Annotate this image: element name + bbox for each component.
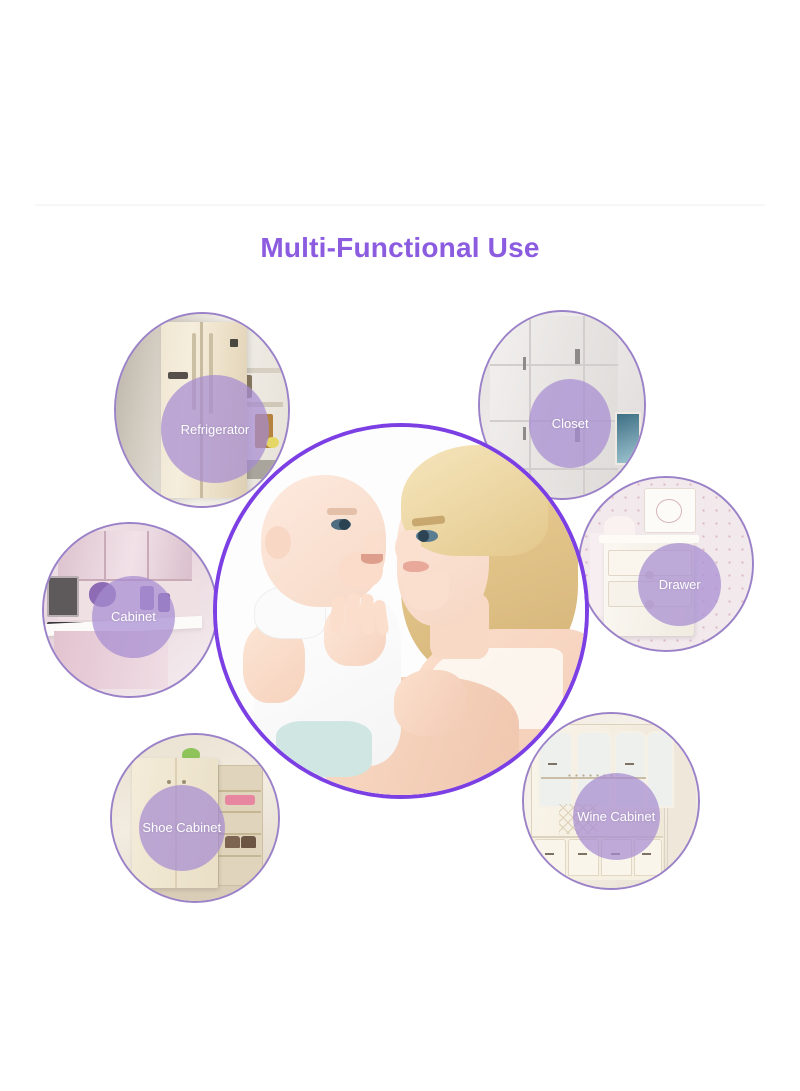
bubble-label-text: Shoe Cabinet	[142, 820, 221, 835]
bubble-label-shoe-cabinet: Shoe Cabinet	[139, 785, 225, 871]
top-divider	[35, 204, 765, 206]
bubble-cabinet[interactable]: Cabinet	[42, 522, 218, 698]
bubble-label-drawer: Drawer	[638, 543, 721, 626]
mother-chin	[405, 574, 449, 611]
bubble-label-text: Cabinet	[111, 609, 156, 624]
bubble-wine-cabinet[interactable]: Wine Cabinet	[522, 712, 700, 890]
baby-eye	[331, 519, 351, 530]
mother-hand	[394, 670, 468, 736]
baby-eyebrow	[327, 508, 356, 515]
mother-eye	[416, 530, 438, 542]
bubble-label-wine-cabinet: Wine Cabinet	[573, 773, 660, 860]
bubble-shoe-cabinet[interactable]: Shoe Cabinet	[110, 733, 280, 903]
bubble-label-cabinet: Cabinet	[92, 576, 175, 659]
bubble-drawer[interactable]: Drawer	[578, 476, 754, 652]
baby-ear	[265, 526, 291, 559]
page-title: Multi-Functional Use	[0, 232, 800, 264]
bubble-label-text: Wine Cabinet	[577, 809, 655, 824]
baby-mouth	[361, 554, 383, 564]
bubble-label-text: Drawer	[659, 577, 701, 592]
product-infographic-page: Multi-Functional Use Refrigerator	[0, 0, 800, 1091]
baby-nose	[364, 534, 382, 552]
baby-diaper	[276, 721, 372, 776]
